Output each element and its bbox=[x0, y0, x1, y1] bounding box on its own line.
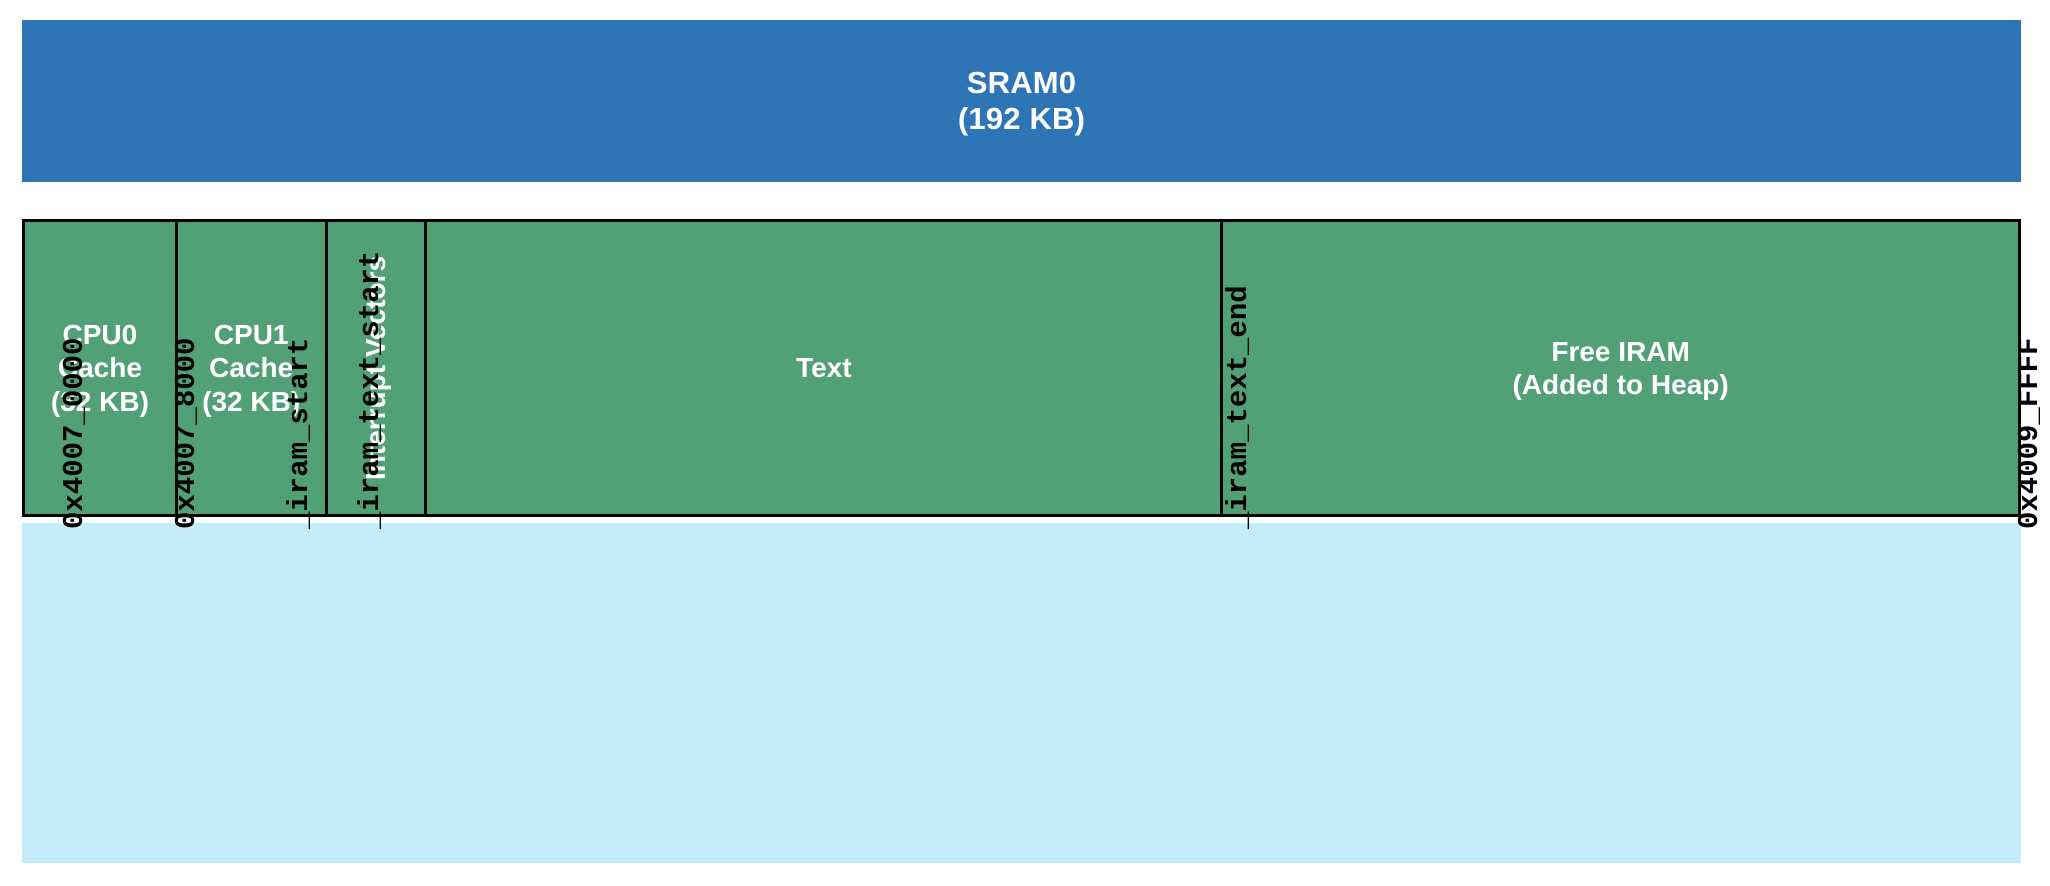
address-marker-iram-top-label: 0x4009_FFFF bbox=[2015, 338, 2044, 529]
diagram-canvas: SRAM0 (192 KB) CPU0 Cache (32 KB) CPU1 C… bbox=[0, 0, 2050, 886]
address-marker-iram-start-label: _iram_start bbox=[285, 338, 314, 529]
address-marker-cpu1-cache-base-label: 0x4007_8000 bbox=[172, 338, 201, 529]
region-cpu0-cache: CPU0 Cache (32 KB) bbox=[25, 222, 178, 514]
address-marker-iram-base-label: 0x4007_0000 bbox=[60, 338, 89, 529]
iram-region-row: CPU0 Cache (32 KB) CPU1 Cache (32 KB) In… bbox=[22, 219, 2021, 517]
region-cpu1-cache-line2: Cache bbox=[209, 351, 293, 384]
region-cpu1-cache-line1: CPU1 bbox=[214, 318, 289, 351]
region-free-iram-line2: (Added to Heap) bbox=[1512, 368, 1728, 401]
sram0-size: (192 KB) bbox=[958, 101, 1085, 137]
address-marker-iram-text-end-label: _iram_text_end bbox=[1224, 285, 1253, 529]
region-free-iram: Free IRAM (Added to Heap) bbox=[1223, 222, 2018, 514]
sram0-title: SRAM0 bbox=[967, 65, 1077, 101]
region-text: Text bbox=[427, 222, 1223, 514]
address-marker-iram-text-start-label: _iram_text_start bbox=[356, 251, 385, 529]
address-annotation-band: 0x4007_0000 0x4007_8000 _iram_start _ira… bbox=[22, 523, 2021, 863]
region-free-iram-line1: Free IRAM bbox=[1551, 335, 1689, 368]
region-text-label: Text bbox=[796, 351, 852, 384]
sram0-block: SRAM0 (192 KB) bbox=[22, 20, 2021, 182]
